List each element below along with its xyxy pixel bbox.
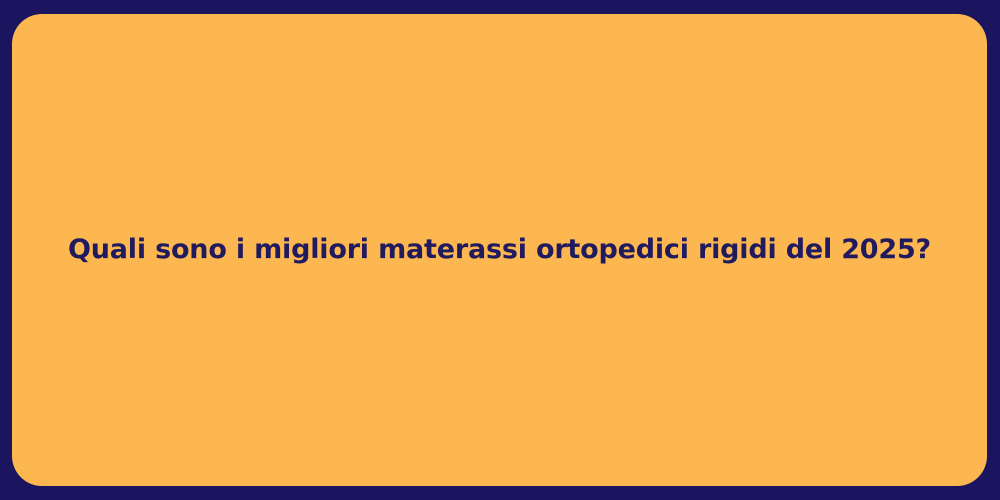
card-panel: Quali sono i migliori materassi ortopedi…: [12, 14, 987, 486]
card-outer-frame: Quali sono i migliori materassi ortopedi…: [0, 0, 1000, 500]
page-title: Quali sono i migliori materassi ortopedi…: [28, 233, 971, 267]
